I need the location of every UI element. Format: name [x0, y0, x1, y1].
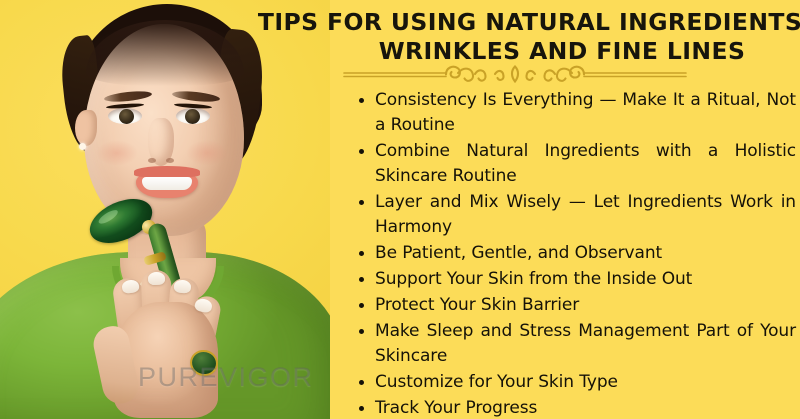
hand: [96, 268, 238, 418]
eye-right: [176, 108, 210, 124]
list-item: Combine Natural Ingredients with a Holis…: [352, 139, 796, 189]
list-item: Layer and Mix Wisely — Let Ingredients W…: [352, 190, 796, 240]
fingernail-middle: [148, 272, 165, 286]
eye-left: [108, 108, 142, 124]
list-item: Make Sleep and Stress Management Part of…: [352, 319, 796, 369]
cheek-left: [96, 140, 138, 166]
infographic-poster: PUREVIGOR TIPS FOR USING NATURAL INGREDI…: [0, 0, 800, 419]
nostril-left: [148, 158, 156, 163]
tip-text: Protect Your Skin Barrier: [375, 295, 579, 315]
tip-text: Layer and Mix Wisely — Let Ingredients W…: [375, 192, 796, 237]
tip-text: Be Patient, Gentle, and Observant: [375, 243, 662, 263]
list-item: Consistency Is Everything — Make It a Ri…: [352, 88, 796, 138]
tip-text: Support Your Skin from the Inside Out: [375, 269, 692, 289]
ornamental-divider-icon: [342, 62, 688, 86]
list-item: Support Your Skin from the Inside Out: [352, 267, 796, 292]
iris-right: [185, 109, 200, 124]
page-title-line-2: WRINKLES AND FINE LINES: [379, 37, 746, 65]
page-title-line-1: TIPS FOR USING NATURAL INGREDIENTS FOR: [258, 8, 800, 36]
tips-list: Consistency Is Everything — Make It a Ri…: [352, 88, 796, 419]
list-item: Protect Your Skin Barrier: [352, 293, 796, 318]
teeth: [142, 177, 192, 190]
cheek-right: [186, 140, 228, 166]
ear: [75, 110, 97, 146]
pearl-earring: [79, 143, 86, 150]
content-panel: TIPS FOR USING NATURAL INGREDIENTS FOR W…: [330, 0, 800, 419]
upper-lip: [134, 166, 200, 177]
tip-text: Consistency Is Everything — Make It a Ri…: [375, 90, 796, 135]
fingernail-ring: [173, 279, 191, 293]
tip-text: Customize for Your Skin Type: [375, 372, 618, 392]
tip-text: Track Your Progress: [375, 398, 537, 418]
list-item: Be Patient, Gentle, and Observant: [352, 241, 796, 266]
tip-text: Make Sleep and Stress Management Part of…: [375, 321, 796, 366]
iris-left: [119, 109, 134, 124]
nostril-right: [166, 158, 174, 163]
list-item: Track Your Progress: [352, 396, 796, 419]
list-item: Customize for Your Skin Type: [352, 370, 796, 395]
page-title: TIPS FOR USING NATURAL INGREDIENTS FOR W…: [212, 8, 800, 66]
tip-text: Combine Natural Ingredients with a Holis…: [375, 141, 796, 186]
